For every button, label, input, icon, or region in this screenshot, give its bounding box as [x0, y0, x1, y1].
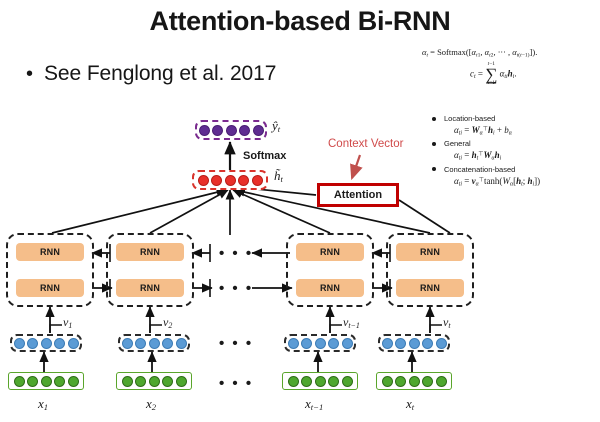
node-dot — [328, 376, 339, 387]
node-dot — [54, 338, 65, 349]
ellipsis-x-row: • • • — [219, 375, 253, 392]
embedding-node-group-1 — [10, 334, 82, 352]
node-dot — [41, 338, 52, 349]
node-dot — [149, 338, 160, 349]
label-v-2: v2 — [163, 315, 172, 330]
rnn-cell-backward: RNN — [16, 243, 84, 261]
node-dot — [176, 338, 187, 349]
node-dot — [212, 125, 223, 136]
node-dot — [176, 376, 187, 387]
ellipsis-rnn-backward: • • • — [219, 245, 253, 262]
node-dot — [395, 376, 406, 387]
embedding-node-group-t-minus-1 — [284, 334, 356, 352]
node-dot — [149, 376, 160, 387]
input-node-group-t — [376, 372, 452, 390]
rnn-cell-forward: RNN — [16, 279, 84, 297]
node-dot — [122, 338, 133, 349]
diagram-connectors — [0, 0, 600, 422]
input-node-group-2 — [116, 372, 192, 390]
node-dot — [436, 338, 447, 349]
label-h-tilde: h̃t — [274, 168, 283, 184]
label-x-1: x1 — [38, 396, 48, 412]
embedding-node-group-t — [378, 334, 450, 352]
node-dot — [68, 376, 79, 387]
rnn-group-2: RNN RNN — [106, 233, 194, 307]
ellipsis-v-row: • • • — [219, 335, 253, 352]
node-dot — [41, 376, 52, 387]
node-dot — [328, 338, 339, 349]
rnn-cell-forward: RNN — [116, 279, 184, 297]
node-dot — [135, 376, 146, 387]
softmax-label: Softmax — [243, 150, 286, 162]
node-dot — [27, 376, 38, 387]
node-dot — [382, 338, 393, 349]
node-dot — [422, 376, 433, 387]
node-dot — [301, 338, 312, 349]
input-node-group-1 — [8, 372, 84, 390]
node-dot — [27, 338, 38, 349]
node-dot — [122, 376, 133, 387]
node-dot — [238, 175, 249, 186]
node-dot — [225, 175, 236, 186]
label-v-1: v1 — [63, 315, 72, 330]
rnn-cell-forward: RNN — [296, 279, 364, 297]
ellipsis-rnn-forward: • • • — [219, 280, 253, 297]
node-dot — [382, 376, 393, 387]
node-dot — [211, 175, 222, 186]
node-dot — [288, 338, 299, 349]
node-dot — [239, 125, 250, 136]
label-x-t-minus-1: xt−1 — [305, 396, 323, 412]
label-v-t-minus-1: vt−1 — [343, 315, 360, 330]
node-dot — [436, 376, 447, 387]
node-dot — [68, 338, 79, 349]
rnn-group-1: RNN RNN — [6, 233, 94, 307]
context-node-group-h-tilde — [192, 170, 268, 190]
node-dot — [199, 125, 210, 136]
node-dot — [198, 175, 209, 186]
context-vector-annotation: Context Vector — [328, 138, 403, 150]
node-dot — [135, 338, 146, 349]
rnn-group-t-minus-1: RNN RNN — [286, 233, 374, 307]
rnn-group-t: RNN RNN — [386, 233, 474, 307]
rnn-cell-backward: RNN — [296, 243, 364, 261]
node-dot — [395, 338, 406, 349]
rnn-cell-backward: RNN — [396, 243, 464, 261]
node-dot — [301, 376, 312, 387]
node-dot — [288, 376, 299, 387]
node-dot — [252, 175, 263, 186]
rnn-cell-forward: RNN — [396, 279, 464, 297]
embedding-node-group-2 — [118, 334, 190, 352]
input-node-group-t-minus-1 — [282, 372, 358, 390]
label-x-2: x2 — [146, 396, 156, 412]
node-dot — [253, 125, 264, 136]
output-node-group-y-hat — [195, 120, 267, 140]
node-dot — [409, 338, 420, 349]
rnn-cell-backward: RNN — [116, 243, 184, 261]
attention-module-box[interactable]: Attention — [317, 183, 399, 207]
label-y-hat: ŷt — [272, 118, 280, 134]
node-dot — [162, 376, 173, 387]
node-dot — [409, 376, 420, 387]
node-dot — [315, 376, 326, 387]
node-dot — [342, 338, 353, 349]
label-v-t: vt — [443, 315, 451, 330]
node-dot — [162, 338, 173, 349]
node-dot — [226, 125, 237, 136]
node-dot — [422, 338, 433, 349]
slide-canvas: Attention-based Bi-RNN • See Fenglong et… — [0, 0, 600, 422]
node-dot — [54, 376, 65, 387]
label-x-t: xt — [406, 396, 414, 412]
architecture-diagram: ŷt Softmax h̃t Context Vector Attention … — [0, 0, 600, 422]
node-dot — [14, 338, 25, 349]
node-dot — [315, 338, 326, 349]
node-dot — [14, 376, 25, 387]
node-dot — [342, 376, 353, 387]
